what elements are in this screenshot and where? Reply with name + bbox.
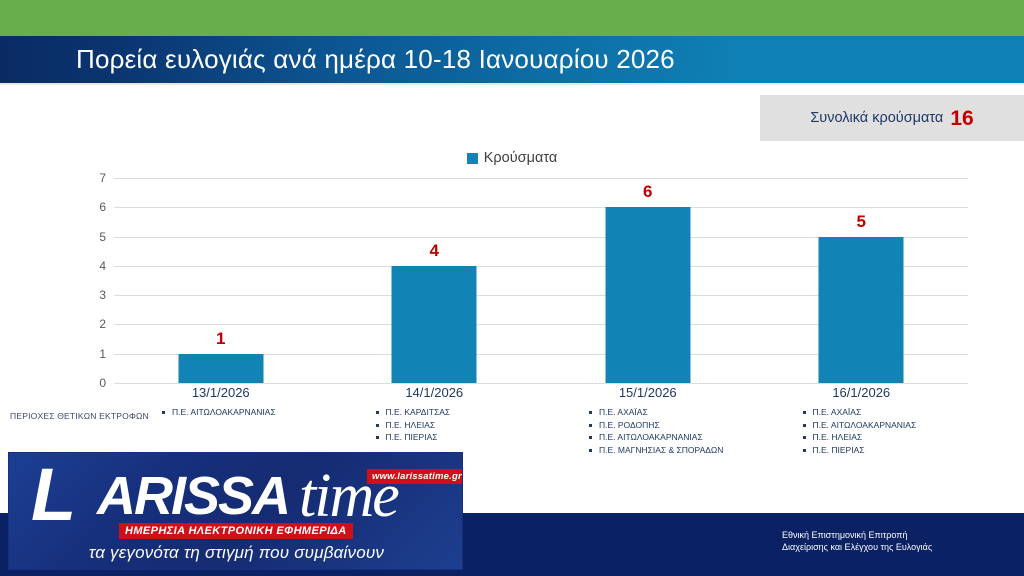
title-underline xyxy=(0,83,1024,85)
bar[interactable] xyxy=(392,266,477,383)
area-list-item: Π.Ε. ΗΛΕΙΑΣ xyxy=(803,431,969,444)
bar-slot: 1 xyxy=(114,178,328,383)
area-list-item: Π.Ε. ΜΑΓΝΗΣΙΑΣ & ΣΠΟΡΑΔΩΝ xyxy=(589,444,755,457)
y-axis-tick: 2 xyxy=(78,317,106,331)
area-list-item: Π.Ε. ΗΛΕΙΑΣ xyxy=(376,419,542,432)
area-list-item: Π.Ε. ΑΧΑΪΑΣ xyxy=(589,406,755,419)
area-list-item: Π.Ε. ΑΧΑΪΑΣ xyxy=(803,406,969,419)
y-axis-tick: 0 xyxy=(78,376,106,390)
bar[interactable] xyxy=(178,354,263,383)
logo-wordmark: L ARISSA time www.larissatime.gr ΗΜΕΡΗΣΙ… xyxy=(31,459,451,529)
x-axis-label: 13/1/2026 xyxy=(114,385,328,400)
area-list-item: Π.Ε. ΑΙΤΩΛΟΑΚΑΡΝΑΝΙΑΣ xyxy=(589,431,755,444)
areas-row: Π.Ε. ΑΙΤΩΛΟΑΚΑΡΝΑΝΙΑΣΠ.Ε. ΚΑΡΔΙΤΣΑΣΠ.Ε. … xyxy=(114,406,968,456)
y-axis-tick: 3 xyxy=(78,288,106,302)
x-axis-label: 14/1/2026 xyxy=(328,385,542,400)
x-axis-label: 15/1/2026 xyxy=(541,385,755,400)
y-axis-tick: 4 xyxy=(78,259,106,273)
plot-area: 1465 xyxy=(114,178,968,383)
areas-column: Π.Ε. ΑΧΑΪΑΣΠ.Ε. ΡΟΔΟΠΗΣΠ.Ε. ΑΙΤΩΛΟΑΚΑΡΝΑ… xyxy=(541,406,755,456)
bar-slot: 5 xyxy=(755,178,969,383)
bar-value-label: 5 xyxy=(857,212,866,232)
legend-label: Κρούσματα xyxy=(484,150,558,166)
bar-value-label: 4 xyxy=(430,241,439,261)
area-list-item: Π.Ε. ΑΙΤΩΛΟΑΚΑΡΝΑΝΙΑΣ xyxy=(803,419,969,432)
footer-credit-line1: Εθνική Επιστημονική Επιτροπή xyxy=(782,529,932,541)
title-bar: Πορεία ευλογιάς ανά ημέρα 10-18 Ιανουαρί… xyxy=(0,36,1024,83)
bar-group: 1465 xyxy=(114,178,968,383)
bar[interactable] xyxy=(605,207,690,383)
logo-subtitle-badge: ΗΜΕΡΗΣΙΑ ΗΛΕΚΤΡΟΝΙΚΗ ΕΦΗΜΕΡΙΔΑ xyxy=(119,523,353,539)
bar-value-label: 1 xyxy=(216,329,225,349)
logo-tagline: τα γεγονότα τη στιγμή που συμβαίνουν xyxy=(9,543,463,563)
x-axis-labels: 13/1/202614/1/202615/1/202616/1/2026 xyxy=(114,385,968,400)
logo-url-badge: www.larissatime.gr xyxy=(367,469,463,484)
bar-slot: 6 xyxy=(541,178,755,383)
logo-word-arissa: ARISSA xyxy=(97,469,289,523)
area-list-item: Π.Ε. ΠΙΕΡΙΑΣ xyxy=(376,431,542,444)
bar-slot: 4 xyxy=(328,178,542,383)
y-axis-tick: 7 xyxy=(78,171,106,185)
total-cases-value: 16 xyxy=(950,108,973,129)
bar-value-label: 6 xyxy=(643,182,652,202)
area-list-item: Π.Ε. ΚΑΡΔΙΤΣΑΣ xyxy=(376,406,542,419)
page-title: Πορεία ευλογιάς ανά ημέρα 10-18 Ιανουαρί… xyxy=(76,44,675,75)
gridline xyxy=(114,383,968,384)
top-green-band xyxy=(0,0,1024,36)
y-axis-tick: 5 xyxy=(78,230,106,244)
y-axis: 01234567 xyxy=(78,178,106,383)
areas-column: Π.Ε. ΑΙΤΩΛΟΑΚΑΡΝΑΝΙΑΣ xyxy=(114,406,328,456)
total-cases-label: Συνολικά κρούσματα xyxy=(810,110,943,126)
bar-chart: 01234567 1465 xyxy=(78,178,968,383)
chart-legend: Κρούσματα xyxy=(0,150,1024,166)
bar[interactable] xyxy=(819,237,904,383)
total-cases-box: Συνολικά κρούσματα 16 xyxy=(760,95,1024,141)
x-axis-label: 16/1/2026 xyxy=(755,385,969,400)
area-list-item: Π.Ε. ΡΟΔΟΠΗΣ xyxy=(589,419,755,432)
areas-column: Π.Ε. ΚΑΡΔΙΤΣΑΣΠ.Ε. ΗΛΕΙΑΣΠ.Ε. ΠΙΕΡΙΑΣ xyxy=(328,406,542,456)
y-axis-tick: 1 xyxy=(78,347,106,361)
area-list-item: Π.Ε. ΑΙΤΩΛΟΑΚΑΡΝΑΝΙΑΣ xyxy=(162,406,328,419)
legend-swatch-icon xyxy=(467,153,478,164)
larissatime-logo[interactable]: L ARISSA time www.larissatime.gr ΗΜΕΡΗΣΙ… xyxy=(8,452,463,570)
area-list-item: Π.Ε. ΠΙΕΡΙΑΣ xyxy=(803,444,969,457)
areas-column: Π.Ε. ΑΧΑΪΑΣΠ.Ε. ΑΙΤΩΛΟΑΚΑΡΝΑΝΙΑΣΠ.Ε. ΗΛΕ… xyxy=(755,406,969,456)
footer-credit: Εθνική Επιστημονική Επιτροπή Διαχείρισης… xyxy=(782,529,932,553)
y-axis-tick: 6 xyxy=(78,200,106,214)
footer-credit-line2: Διαχείρισης και Ελέγχου της Ευλογιάς xyxy=(782,541,932,553)
